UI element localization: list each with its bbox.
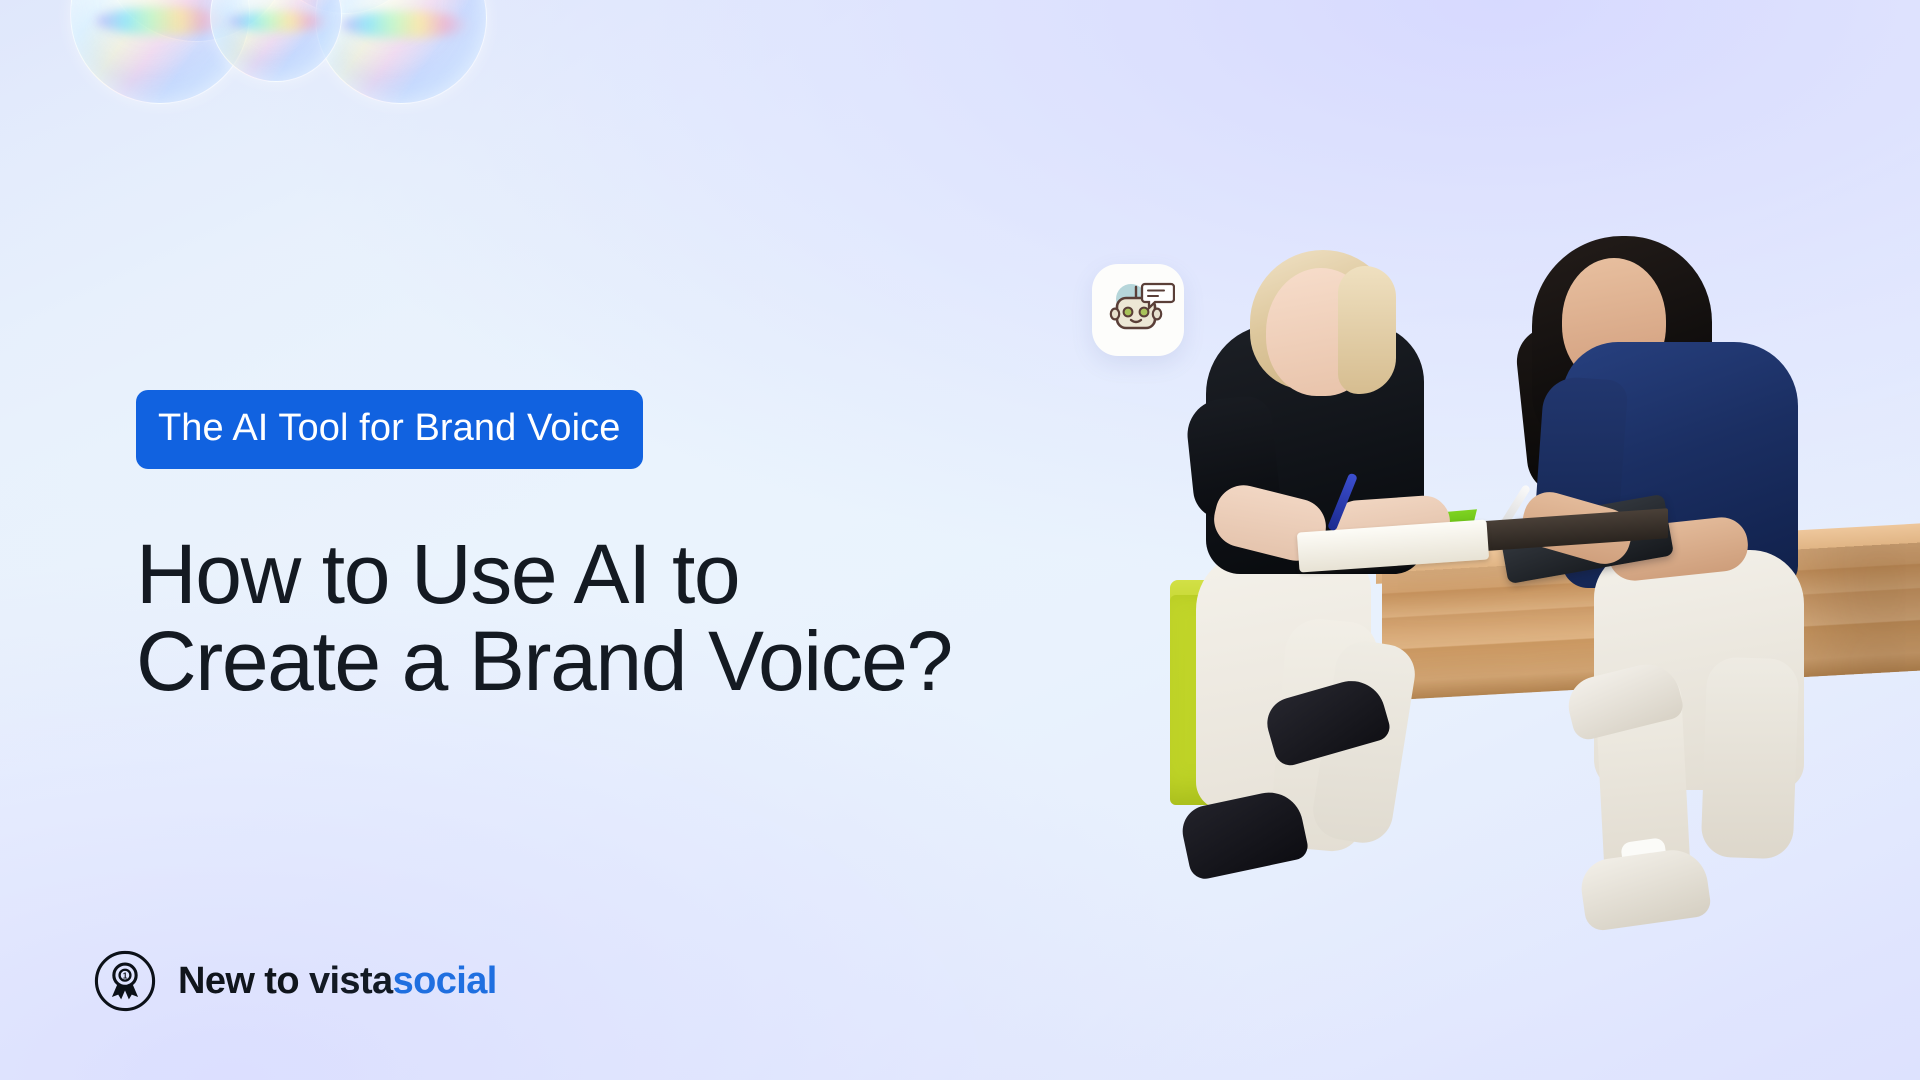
man-sneaker-lower (1578, 846, 1713, 933)
two-people-collaborating-photo (1170, 250, 1920, 1080)
soap-bubble (100, 0, 292, 42)
ai-chatbot-icon (1101, 273, 1175, 347)
brand-prefix: New to (178, 960, 299, 1002)
hero-text-column: The AI Tool for Brand Voice How to Use A… (136, 390, 1036, 760)
soap-bubble (210, 0, 342, 82)
brand-name-social: social (393, 960, 497, 1002)
award-ribbon-badge-icon: 1 (94, 950, 156, 1012)
woman-hair-front (1338, 266, 1396, 394)
brand-name-vista: vista (309, 960, 393, 1002)
page-title: How to Use AI to Create a Brand Voice? (136, 531, 1036, 704)
hero-banner-canvas: The AI Tool for Brand Voice How to Use A… (0, 0, 1920, 1080)
iridescent-soap-bubbles (70, 0, 490, 200)
headline-line-1: How to Use AI to (136, 531, 1036, 618)
brand-lockup[interactable]: 1 New to vistasocial (94, 950, 497, 1012)
soap-bubble (70, 0, 250, 104)
eyebrow-badge: The AI Tool for Brand Voice (136, 390, 643, 469)
headline-line-2: Create a Brand Voice? (136, 618, 1036, 705)
soap-bubble (315, 0, 487, 104)
brand-text: New to vistasocial (178, 960, 497, 1003)
man-right-shin (1701, 656, 1800, 859)
award-number: 1 (123, 972, 128, 981)
soap-bubble (265, 0, 425, 14)
